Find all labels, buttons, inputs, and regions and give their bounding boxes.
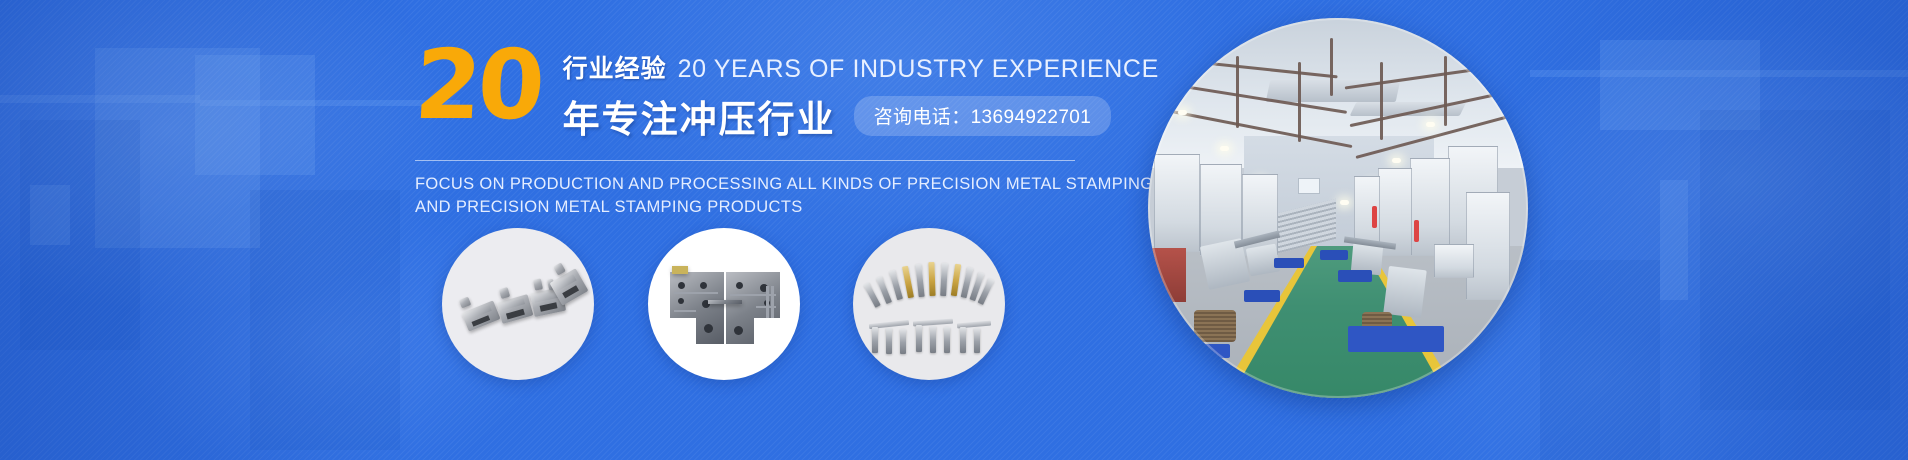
photo-lamp [1220, 146, 1229, 151]
photo-workbench [1434, 244, 1474, 278]
photo-pallet [1338, 270, 1372, 282]
subtitle-block: FOCUS ON PRODUCTION AND PROCESSING ALL K… [415, 173, 1095, 220]
photo-pipe [1380, 62, 1383, 140]
photo-pipe [1444, 56, 1447, 126]
headline-block: 20 行业经验 20 YEARS OF INDUSTRY EXPERIENCE … [415, 40, 1095, 220]
photo-lamp [1340, 200, 1349, 205]
photo-signal-tower [1414, 220, 1419, 242]
photo-lamp [1426, 122, 1435, 127]
headline-row: 20 行业经验 20 YEARS OF INDUSTRY EXPERIENCE … [415, 40, 1095, 143]
photo-pallet [1274, 258, 1304, 268]
experience-label-cn: 行业经验 [563, 49, 667, 85]
subtitle-line-1: FOCUS ON PRODUCTION AND PROCESSING ALL K… [415, 173, 1095, 196]
photo-lamp [1178, 110, 1187, 115]
photo-signal-tower [1372, 206, 1377, 228]
focus-industry-label-cn: 年专注冲压行业 [563, 89, 836, 143]
photo-pallet [1244, 290, 1280, 302]
headline-text-group: 行业经验 20 YEARS OF INDUSTRY EXPERIENCE 年专注… [563, 40, 1159, 143]
factory-workshop-photo[interactable] [1148, 18, 1528, 398]
photo-press [1383, 266, 1427, 318]
photo-pipe [1330, 38, 1333, 96]
photo-wire-spool [1194, 310, 1236, 342]
photo-red-cabinet [1152, 248, 1186, 302]
subtitle-line-2: AND PRECISION METAL STAMPING PRODUCTS [415, 196, 1095, 219]
photo-pallet [1348, 326, 1444, 352]
promo-banner: 20 行业经验 20 YEARS OF INDUSTRY EXPERIENCE … [0, 0, 1908, 460]
years-number: 20 [413, 46, 543, 125]
headline-divider [415, 160, 1075, 161]
photo-pallet [1320, 250, 1348, 260]
photo-pallet [1178, 344, 1230, 358]
product-image-stamping-die[interactable] [648, 228, 800, 380]
headline-line-secondary: 年专注冲压行业 咨询电话：13694922701 [563, 89, 1159, 143]
headline-line-primary: 行业经验 20 YEARS OF INDUSTRY EXPERIENCE [563, 49, 1159, 85]
experience-label-en: 20 YEARS OF INDUSTRY EXPERIENCE [678, 55, 1159, 84]
photo-lamp [1392, 158, 1401, 163]
photo-window [1298, 178, 1320, 194]
photo-pipe [1298, 62, 1301, 142]
photo-pipe [1236, 56, 1239, 128]
product-image-metal-terminals[interactable] [853, 228, 1005, 380]
consult-phone-badge[interactable]: 咨询电话：13694922701 [854, 96, 1112, 136]
product-image-usb-connectors[interactable] [442, 228, 594, 380]
photo-machine [1154, 154, 1200, 252]
